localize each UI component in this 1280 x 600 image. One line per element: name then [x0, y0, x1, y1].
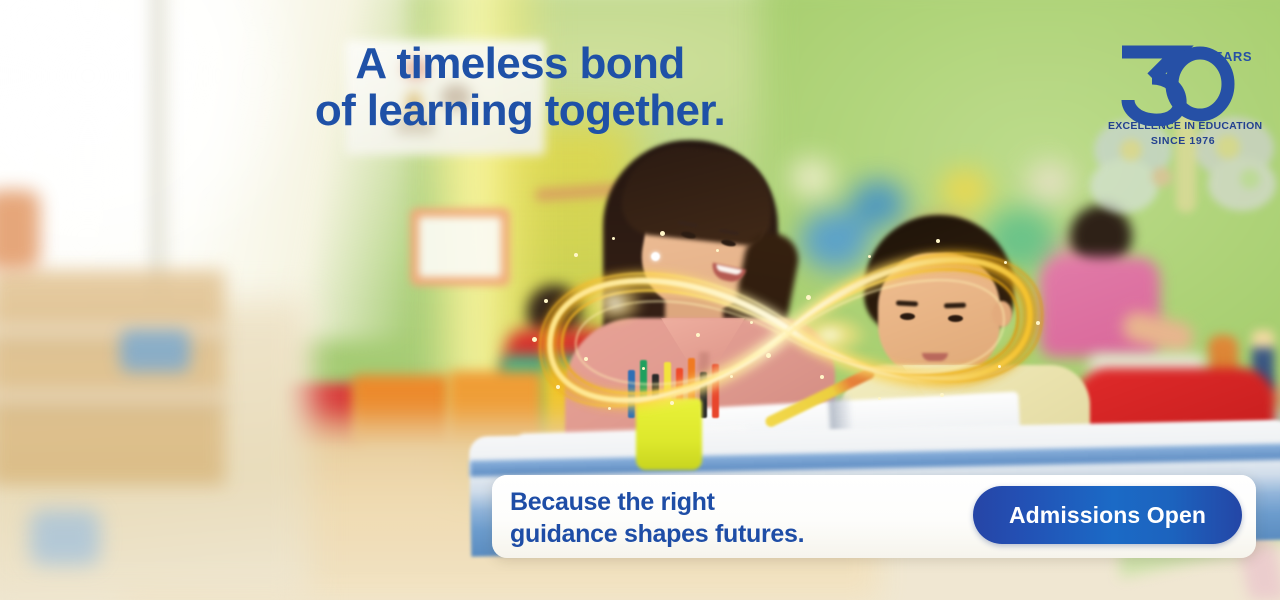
- bottom-tagline-line-1: Because the right: [510, 488, 715, 516]
- left-shelf: [0, 270, 225, 485]
- left-toy-blue-2: [30, 510, 100, 565]
- page-title: A timeless bond of learning together.: [0, 40, 1040, 134]
- swirl-glow-left: [575, 275, 655, 331]
- wall-frame: [410, 208, 510, 286]
- bottom-cta-bar: Because the right guidance shapes future…: [492, 475, 1256, 558]
- left-toy-blue: [120, 330, 190, 372]
- hero-banner: A timeless bond of learning together. YE…: [0, 0, 1280, 600]
- logo-since: SINCE 1976: [1108, 135, 1258, 147]
- bottom-tagline: Because the right guidance shapes future…: [510, 486, 804, 550]
- headline-line-2: of learning together.: [0, 87, 1040, 134]
- bottom-tagline-line-2: guidance shapes futures.: [510, 518, 804, 550]
- fifty-years-logo: YEARS EXCELLENCE IN EDUCATION SINCE 1976: [1108, 38, 1258, 158]
- headline-line-1: A timeless bond: [355, 39, 684, 88]
- admissions-open-button[interactable]: Admissions Open: [973, 486, 1242, 544]
- logo-mark-icon: YEARS: [1108, 38, 1258, 126]
- left-toy-orange: [0, 190, 40, 270]
- logo-years-label: YEARS: [1205, 49, 1252, 64]
- pencil-cup: [636, 398, 702, 470]
- swirl-glow-center: [775, 305, 885, 365]
